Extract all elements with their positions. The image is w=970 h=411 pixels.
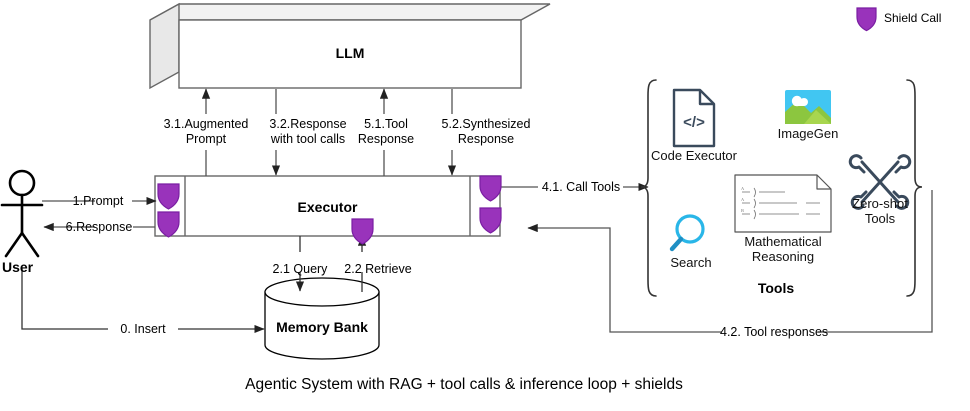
executor-label: Executor <box>185 199 470 216</box>
tool-label-zero-shot-tools[interactable]: Zero-shot Tools <box>838 196 922 227</box>
tool-label-mathematical-reasoning[interactable]: Mathematical Reasoning <box>722 234 844 265</box>
edge-label-tool-response: 5.1.Tool Response <box>345 117 427 147</box>
edge-label-synthesized-response: 5.2.Synthesized Response <box>424 117 548 147</box>
edge-insert <box>22 268 264 329</box>
shield-icon-memory-retrieve <box>352 219 373 244</box>
tools-group-label: Tools <box>716 280 836 297</box>
user-label: User <box>2 259 33 276</box>
svg-text:</>: </> <box>683 114 705 131</box>
tool-label-code-executor[interactable]: Code Executor <box>646 148 742 163</box>
diagram-caption: Agentic System with RAG + tool calls & i… <box>0 376 928 394</box>
magnifier-icon <box>672 216 703 249</box>
edge-label-insert: 0. Insert <box>106 322 180 337</box>
edge-label-retrieve: 2.2 Retrieve <box>330 262 426 277</box>
image-picture-icon <box>785 90 831 124</box>
edge-label-response: 6.Response <box>58 220 140 235</box>
user-stick-figure <box>2 171 42 256</box>
edge-label-tool-responses: 4.2. Tool responses <box>720 325 820 340</box>
legend-shield-label: Shield Call <box>884 11 941 25</box>
diagram-canvas: </> A A B <box>0 0 970 411</box>
tool-label-imagegen[interactable]: ImageGen <box>762 126 854 141</box>
diagram-vector-layer: </> A A B <box>0 0 970 411</box>
svg-text:B: B <box>741 208 744 213</box>
tool-label-search[interactable]: Search <box>660 255 722 270</box>
edge-label-prompt: 1.Prompt <box>62 194 134 209</box>
code-document-icon: </> <box>674 90 714 146</box>
edge-label-call-tools: 4.1. Call Tools <box>538 180 624 195</box>
llm-label: LLM <box>179 45 521 62</box>
memory-bank-label: Memory Bank <box>265 319 379 336</box>
formula-document-icon: A A B <box>735 175 831 232</box>
shield-icon-legend <box>857 8 876 31</box>
